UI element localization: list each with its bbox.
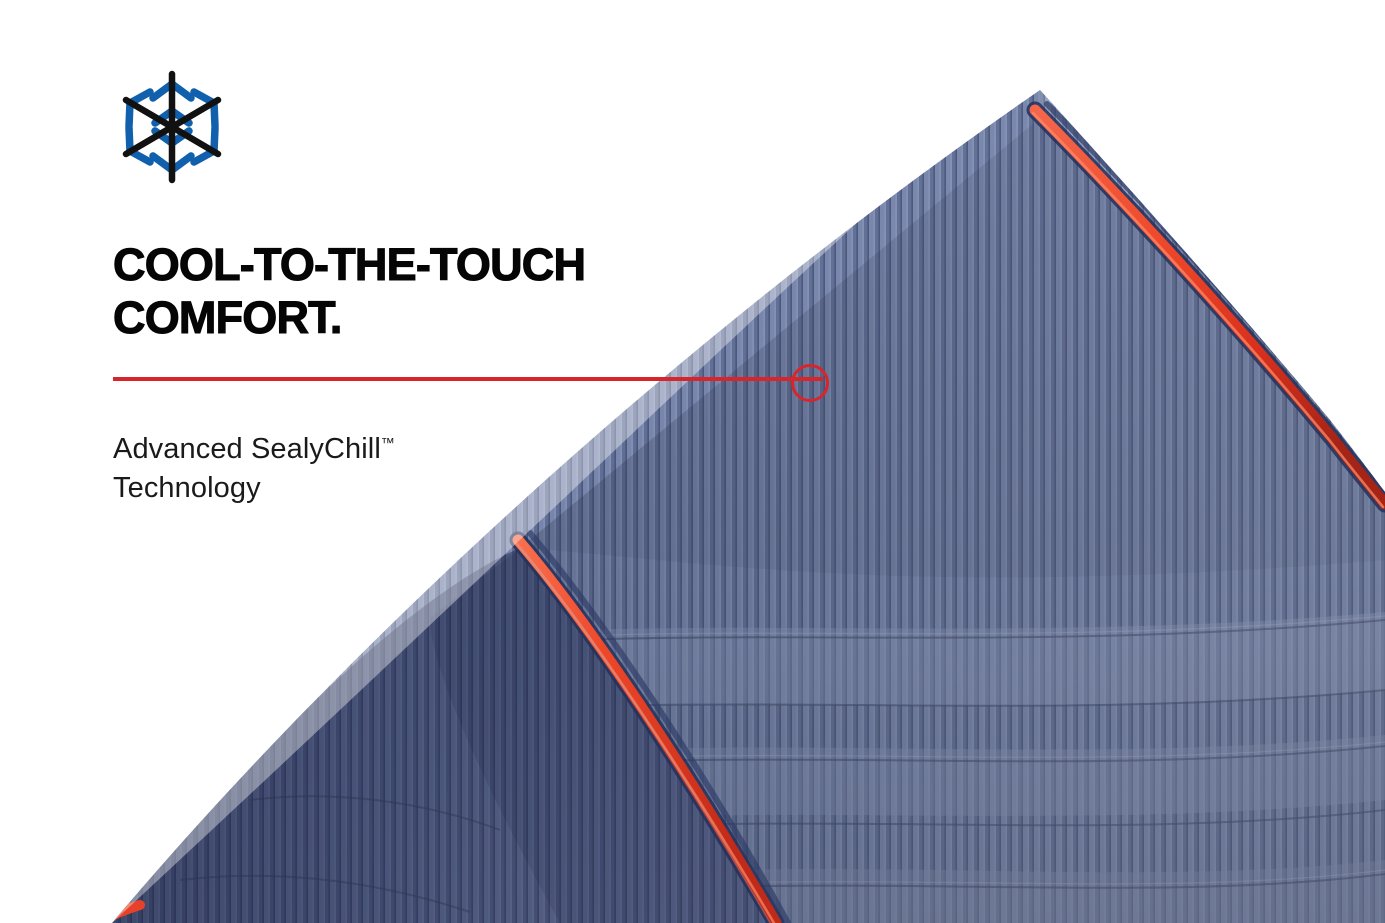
subcopy-text: Advanced SealyChill — [113, 433, 381, 465]
snowflake-spokes — [126, 74, 218, 180]
subcopy-line2: Technology — [113, 472, 261, 504]
hero-banner: COOL-TO-THE-TOUCH COMFORT. Advanced Seal… — [0, 0, 1385, 923]
callout-leader-line — [113, 377, 823, 381]
snowflake-icon — [113, 64, 231, 190]
trademark-symbol: ™ — [381, 434, 395, 450]
divider-rule — [113, 377, 823, 381]
page-title: COOL-TO-THE-TOUCH COMFORT. — [113, 238, 653, 344]
subcopy: Advanced SealyChill™Technology — [113, 430, 395, 509]
feature-callout-circle[interactable] — [791, 364, 829, 402]
marketing-text-panel: COOL-TO-THE-TOUCH COMFORT. Advanced Seal… — [113, 64, 733, 344]
